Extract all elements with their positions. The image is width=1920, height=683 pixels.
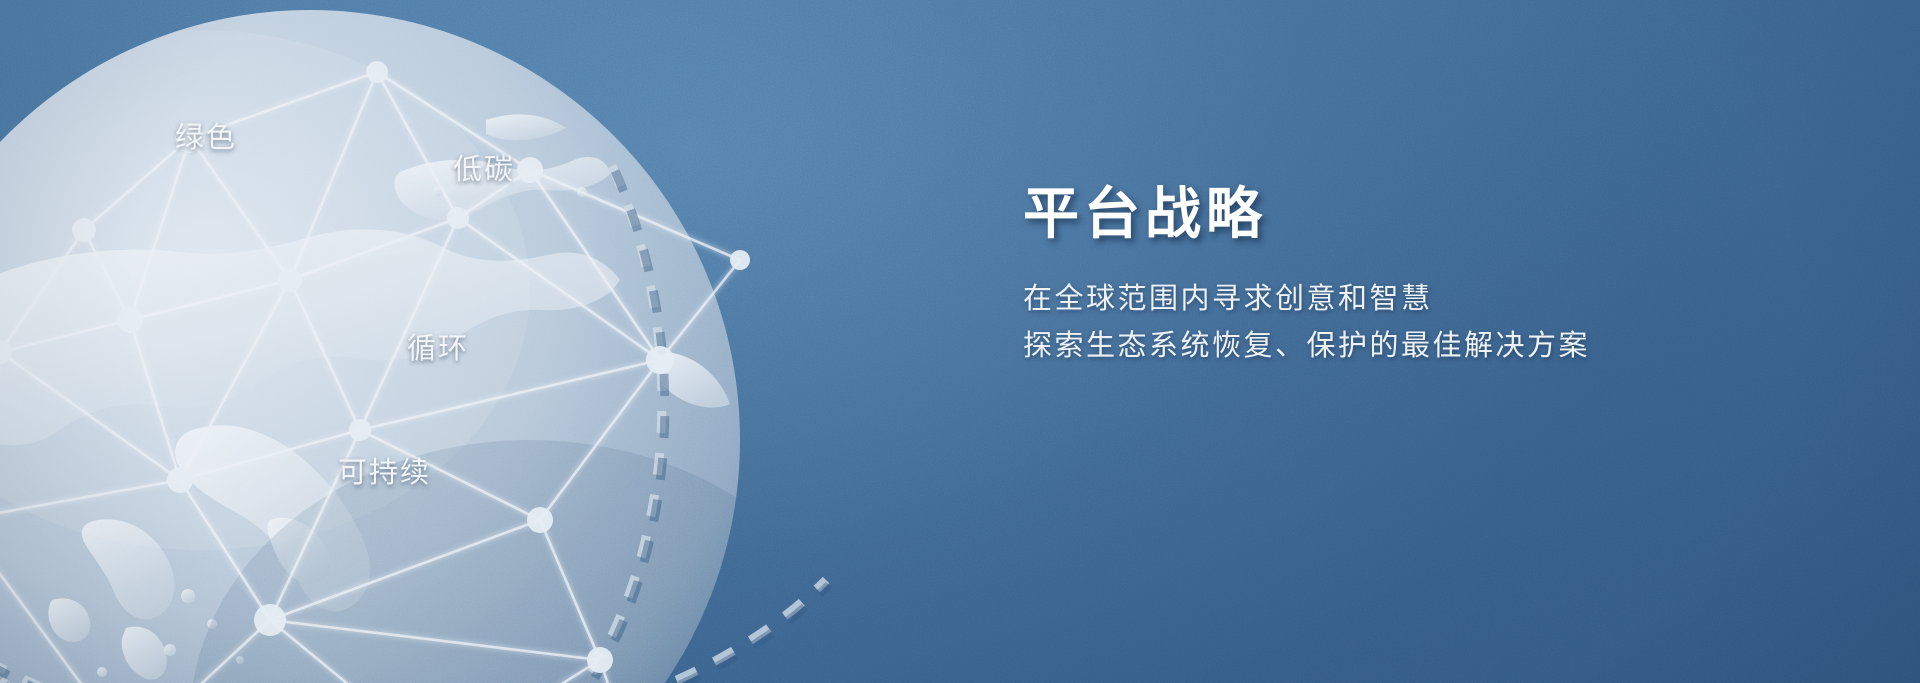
keyword-label-circular: 循环 xyxy=(407,335,469,364)
keyword-label-sustainable: 可持续 xyxy=(338,459,431,488)
hero-copy: 平台战略 在全球范围内寻求创意和智慧 探索生态系统恢复、保护的最佳解决方案 xyxy=(1023,183,1783,370)
hero-subtitle: 在全球范围内寻求创意和智慧 探索生态系统恢复、保护的最佳解决方案 xyxy=(1023,276,1783,370)
page-title: 平台战略 xyxy=(1023,183,1783,246)
subtitle-line: 探索生态系统恢复、保护的最佳解决方案 xyxy=(1023,323,1783,370)
subtitle-line: 在全球范围内寻求创意和智慧 xyxy=(1023,276,1783,323)
keyword-label-green: 绿色 xyxy=(175,124,237,153)
keyword-label-low-carbon: 低碳 xyxy=(453,156,515,185)
hero-banner: 绿色 低碳 循环 可持续 平台战略 在全球范围内寻求创意和智慧 探索生态系统恢复… xyxy=(0,0,1920,683)
